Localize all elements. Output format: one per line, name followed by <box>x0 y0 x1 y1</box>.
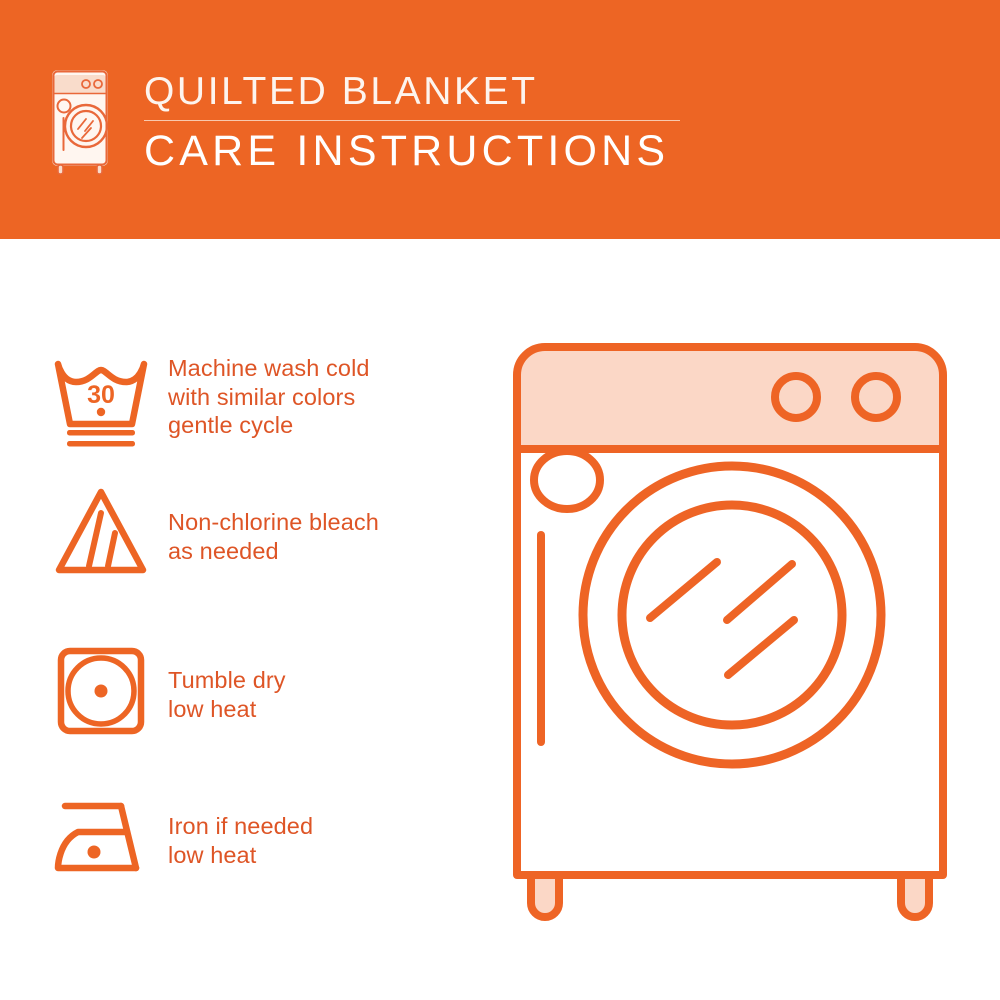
iron-icon-wrapper <box>48 790 168 890</box>
front-load-washing-machine-illustration <box>495 330 965 940</box>
care-text-dry-line-2: low heat <box>168 695 286 724</box>
care-text-wash: Machine wash cold with similar colors ge… <box>168 352 370 440</box>
care-text-wash-line-1: Machine wash cold <box>168 354 370 383</box>
dry-icon-wrapper <box>48 640 168 740</box>
washing-machine-icon <box>44 66 116 178</box>
header-title-block: QUILTED BLANKET CARE INSTRUCTIONS <box>144 70 704 176</box>
care-row-wash: 30 Machine wash cold with similar colors… <box>48 352 468 452</box>
care-text-iron-line-1: Iron if needed <box>168 812 313 841</box>
care-text-bleach: Non-chlorine bleach as needed <box>168 482 379 565</box>
bleach-icon-wrapper <box>48 482 168 582</box>
wash-basin-30-gentle-icon: 30 <box>48 352 154 452</box>
care-row-bleach: Non-chlorine bleach as needed <box>48 482 468 582</box>
care-row-iron: Iron if needed low heat <box>48 790 468 890</box>
page-title-primary: QUILTED BLANKET <box>144 70 704 114</box>
care-row-dry: Tumble dry low heat <box>48 640 468 740</box>
care-text-dry-line-1: Tumble dry <box>168 666 286 695</box>
control-panel <box>517 347 943 450</box>
care-text-bleach-line-1: Non-chlorine bleach <box>168 508 379 537</box>
triangle-non-chlorine-bleach-icon <box>48 482 154 582</box>
wash-temperature-label: 30 <box>87 381 115 409</box>
care-text-dry: Tumble dry low heat <box>168 640 286 723</box>
wash-icon-wrapper: 30 <box>48 352 168 452</box>
page-header: QUILTED BLANKET CARE INSTRUCTIONS <box>0 0 1000 239</box>
detergent-drawer-circle[interactable] <box>534 451 600 509</box>
iron-low-heat-icon <box>48 790 154 890</box>
care-text-wash-line-2: with similar colors <box>168 383 370 412</box>
care-text-wash-line-3: gentle cycle <box>168 411 370 440</box>
care-text-iron: Iron if needed low heat <box>168 790 313 869</box>
care-instructions-page: QUILTED BLANKET CARE INSTRUCTIONS 30 Mac… <box>0 0 1000 1000</box>
care-text-bleach-line-2: as needed <box>168 537 379 566</box>
page-title-secondary: CARE INSTRUCTIONS <box>144 126 704 176</box>
leg-left <box>531 875 559 917</box>
care-text-iron-line-2: low heat <box>168 841 313 870</box>
title-divider <box>144 120 680 121</box>
leg-right <box>901 875 929 917</box>
water-streaks <box>650 562 794 675</box>
tumble-dry-low-heat-icon <box>48 640 154 740</box>
